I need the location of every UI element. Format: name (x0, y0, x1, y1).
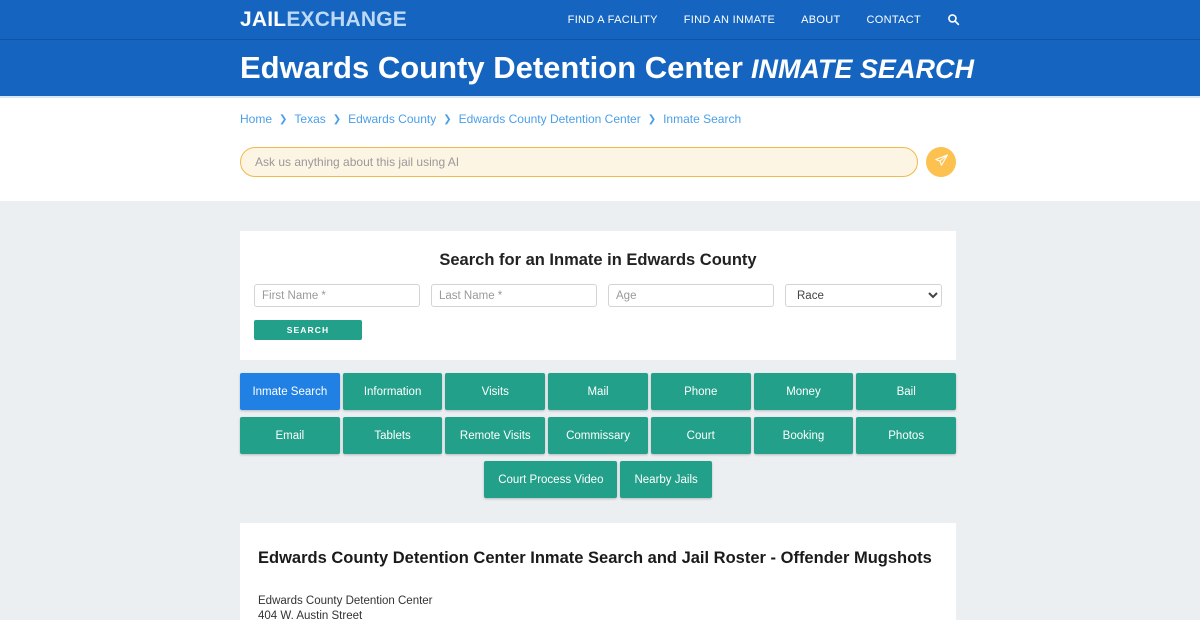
tab-mail[interactable]: Mail (548, 373, 648, 410)
age-input[interactable] (608, 284, 774, 307)
top-navigation-bar: JAILEXCHANGE FIND A FACILITY FIND AN INM… (0, 0, 1200, 40)
tab-visits[interactable]: Visits (445, 373, 545, 410)
tab-email[interactable]: Email (240, 417, 340, 454)
nav-item-find-an-inmate[interactable]: FIND AN INMATE (684, 14, 775, 26)
facility-info-heading: Edwards County Detention Center Inmate S… (258, 549, 938, 568)
facility-street: 404 W. Austin Street (258, 609, 938, 620)
search-submit-button[interactable]: SEARCH (254, 320, 362, 340)
logo-text-secondary: EXCHANGE (286, 8, 407, 31)
facility-address-block: Edwards County Detention Center 404 W. A… (258, 594, 938, 620)
tab-commissary[interactable]: Commissary (548, 417, 648, 454)
chevron-right-icon: ❯ (279, 114, 287, 125)
tab-phone[interactable]: Phone (651, 373, 751, 410)
tab-tablets[interactable]: Tablets (343, 417, 443, 454)
last-name-input[interactable] (431, 284, 597, 307)
ai-send-button[interactable] (926, 147, 956, 177)
page-title-band: Edwards County Detention CenterINMATE SE… (0, 40, 1200, 98)
tab-money[interactable]: Money (754, 373, 854, 410)
tab-inmate-search[interactable]: Inmate Search (240, 373, 340, 410)
search-form-heading: Search for an Inmate in Edwards County (254, 251, 942, 270)
nav-item-find-a-facility[interactable]: FIND A FACILITY (568, 14, 658, 26)
section-tabs-row-1: Inmate Search Information Visits Mail Ph… (240, 373, 956, 410)
breadcrumb-item-edwards-county[interactable]: Edwards County (348, 112, 436, 126)
paper-plane-icon (934, 153, 949, 171)
breadcrumb-item-home[interactable]: Home (240, 112, 272, 126)
chevron-right-icon: ❯ (648, 114, 656, 125)
chevron-right-icon: ❯ (333, 114, 341, 125)
tab-booking[interactable]: Booking (754, 417, 854, 454)
logo-text-primary: JAIL (240, 8, 286, 31)
facility-info-card: Edwards County Detention Center Inmate S… (240, 523, 956, 620)
tab-photos[interactable]: Photos (856, 417, 956, 454)
breadcrumb-item-edwards-county-detention-center[interactable]: Edwards County Detention Center (459, 112, 641, 126)
tab-nearby-jails[interactable]: Nearby Jails (620, 461, 711, 498)
main-content: Search for an Inmate in Edwards County R… (0, 201, 1200, 620)
search-icon[interactable] (947, 13, 960, 26)
page-title-main: Edwards County Detention Center (240, 50, 743, 85)
nav-item-contact[interactable]: CONTACT (867, 14, 921, 26)
section-tabs-row-2: Email Tablets Remote Visits Commissary C… (240, 417, 956, 454)
ai-search-bar (240, 147, 960, 177)
ai-search-input[interactable] (240, 147, 918, 177)
tab-bail[interactable]: Bail (856, 373, 956, 410)
breadcrumb-and-ai-section: Home ❯ Texas ❯ Edwards County ❯ Edwards … (0, 98, 1200, 201)
tab-court[interactable]: Court (651, 417, 751, 454)
first-name-input[interactable] (254, 284, 420, 307)
page-title: Edwards County Detention CenterINMATE SE… (240, 50, 974, 86)
inmate-search-card: Search for an Inmate in Edwards County R… (240, 231, 956, 360)
page-title-subtitle: INMATE SEARCH (751, 54, 974, 84)
breadcrumb: Home ❯ Texas ❯ Edwards County ❯ Edwards … (240, 112, 960, 126)
race-select[interactable]: Race (785, 284, 942, 307)
breadcrumb-item-inmate-search: Inmate Search (663, 112, 741, 126)
site-logo[interactable]: JAILEXCHANGE (240, 8, 407, 32)
facility-name: Edwards County Detention Center (258, 594, 938, 609)
section-tabs: Inmate Search Information Visits Mail Ph… (240, 373, 956, 498)
tab-court-process-video[interactable]: Court Process Video (484, 461, 617, 498)
tab-remote-visits[interactable]: Remote Visits (445, 417, 545, 454)
breadcrumb-item-texas[interactable]: Texas (294, 112, 325, 126)
chevron-right-icon: ❯ (443, 114, 451, 125)
nav-item-about[interactable]: ABOUT (801, 14, 840, 26)
search-form-fields: Race (254, 284, 942, 307)
tab-information[interactable]: Information (343, 373, 443, 410)
section-tabs-row-3: Court Process Video Nearby Jails (240, 461, 956, 498)
main-nav-links: FIND A FACILITY FIND AN INMATE ABOUT CON… (568, 13, 960, 26)
